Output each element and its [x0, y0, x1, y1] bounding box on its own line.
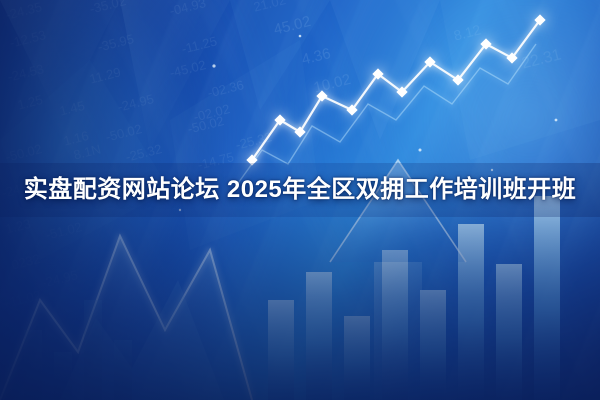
page-title: 实盘配资网站论坛 2025年全区双拥工作培训班开班 — [0, 170, 600, 210]
image-canvas: -24.35-35.02-04.9321.0245.028.12-12.53-3… — [0, 0, 600, 400]
